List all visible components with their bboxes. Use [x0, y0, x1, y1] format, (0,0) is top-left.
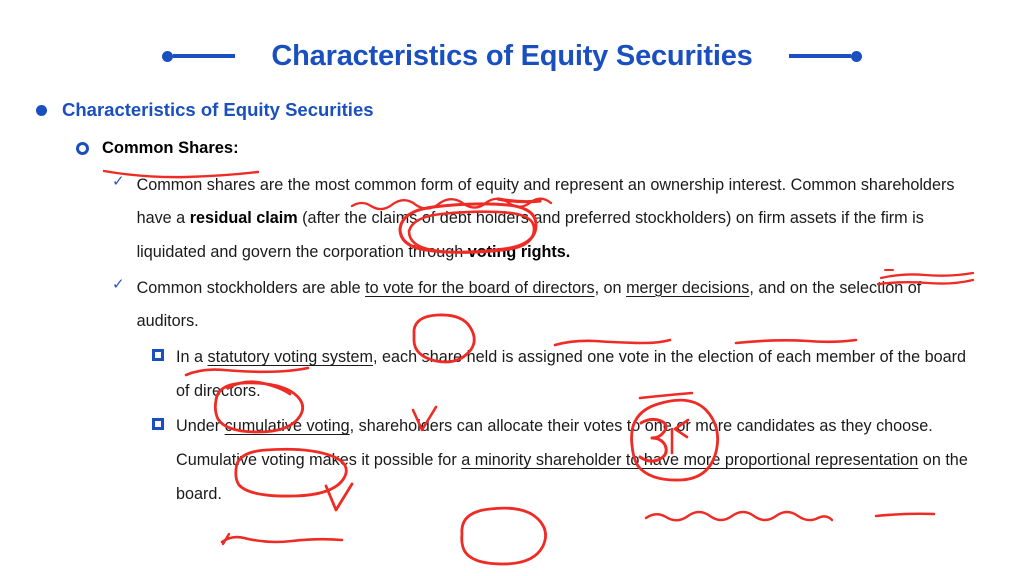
- squiggle-proportional-representation-mark: [222, 537, 342, 542]
- level1-bullet-item: Characteristics of Equity Securities: [36, 96, 1024, 124]
- filled-circle-bullet-icon: [36, 105, 47, 116]
- slide-canvas: Characteristics of Equity Securities Cha…: [0, 0, 1024, 576]
- right-decoration: [789, 51, 862, 62]
- check-bullet-paragraph: Common stockholders are able to vote for…: [137, 272, 967, 339]
- level1-bullet-label: Characteristics of Equity Securities: [62, 96, 374, 124]
- left-dot-icon: [162, 51, 173, 62]
- underline-have-more-mark: [876, 514, 934, 516]
- slide-title-row: Characteristics of Equity Securities: [0, 30, 1024, 82]
- seg-underline-cumulative-voting: cumulative voting: [225, 417, 350, 435]
- seg-text: In a: [176, 348, 208, 366]
- seg-bold-voting-rights: voting rights.: [468, 243, 571, 261]
- check-icon: ✓: [112, 174, 125, 189]
- square-bullet-paragraph: Under cumulative voting, shareholders ca…: [176, 410, 976, 511]
- seg-bold-residual-claim: residual claim: [190, 209, 298, 227]
- right-dot-icon: [851, 51, 862, 62]
- seg-text: Under: [176, 417, 225, 435]
- right-line-icon: [789, 54, 851, 58]
- square-bullet-item: Under cumulative voting, shareholders ca…: [152, 410, 1024, 511]
- square-bullet-icon: [152, 349, 164, 361]
- left-decoration: [162, 51, 235, 62]
- level2-bullet-item: Common Shares:: [76, 136, 1024, 161]
- seg-text: Common stockholders are able: [137, 279, 366, 297]
- seg-underline-statutory-voting-system: statutory voting system: [208, 348, 374, 366]
- check-icon: ✓: [112, 277, 125, 292]
- seg-underline-to-vote: to vote for the board of directors: [365, 279, 594, 297]
- seg-text: , on: [595, 279, 627, 297]
- check-bullet-item: ✓ Common shares are the most common form…: [112, 169, 1024, 270]
- circle-the-board-mark: [462, 508, 546, 564]
- level2-bullet-label: Common Shares:: [102, 136, 239, 161]
- square-bullet-icon: [152, 418, 164, 430]
- slide-body: Characteristics of Equity Securities Com…: [0, 96, 1024, 513]
- seg-underline-merger-decisions: merger decisions: [626, 279, 749, 297]
- squiggle-proportional-tick: [223, 534, 229, 544]
- square-bullet-paragraph: In a statutory voting system, each share…: [176, 341, 976, 408]
- check-bullet-paragraph: Common shares are the most common form o…: [137, 169, 967, 270]
- ring-bullet-icon: [76, 142, 89, 155]
- check-bullet-item: ✓ Common stockholders are able to vote f…: [112, 272, 1024, 339]
- seg-underline-minority-shareholder: a minority shareholder to have more prop…: [461, 451, 918, 469]
- page-title: Characteristics of Equity Securities: [271, 40, 752, 73]
- square-bullet-item: In a statutory voting system, each share…: [152, 341, 1024, 408]
- left-line-icon: [173, 54, 235, 58]
